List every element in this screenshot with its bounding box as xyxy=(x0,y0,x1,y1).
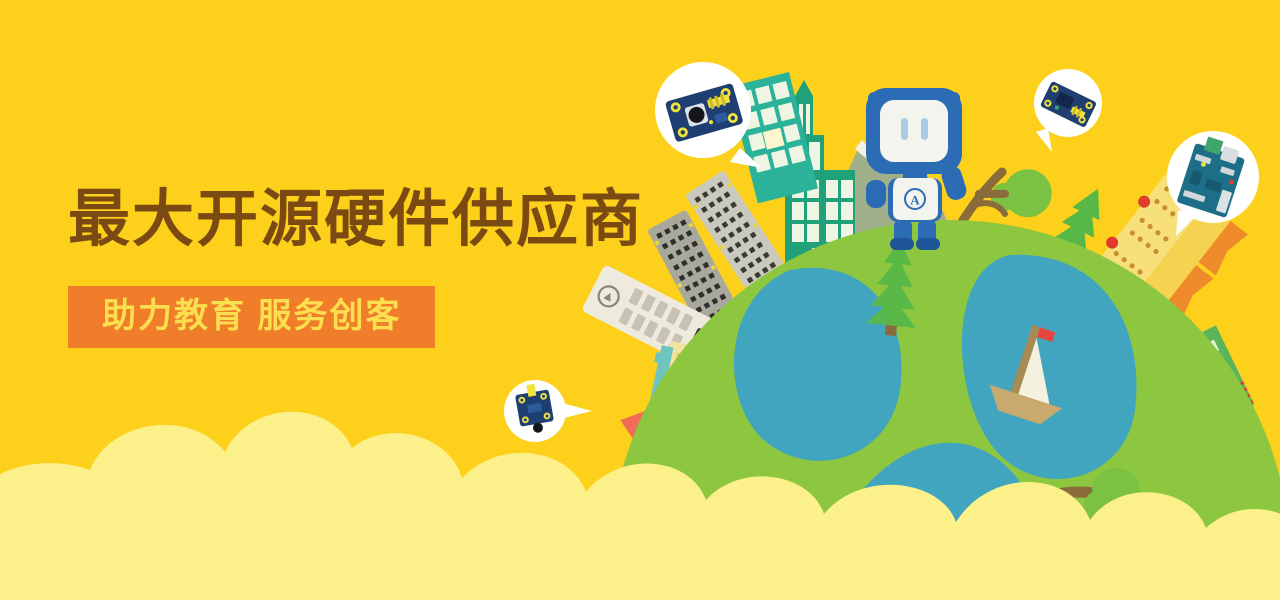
robot-arm-left xyxy=(866,180,886,208)
lake-left xyxy=(734,268,902,461)
robot-face xyxy=(880,100,948,162)
robot-logo-letter: A xyxy=(910,193,920,208)
subtitle-box: 助力教育 服务创客 xyxy=(68,286,435,348)
promo-banner: A xyxy=(0,0,1280,600)
page-title: 最大开源硬件供应商 xyxy=(68,185,588,254)
subtitle-text: 助力教育 服务创客 xyxy=(102,299,401,333)
robot-eye-right xyxy=(921,118,928,140)
robot-eye-left xyxy=(901,118,908,140)
headline-block: 最大开源硬件供应商 助力教育 服务创客 xyxy=(68,185,588,348)
